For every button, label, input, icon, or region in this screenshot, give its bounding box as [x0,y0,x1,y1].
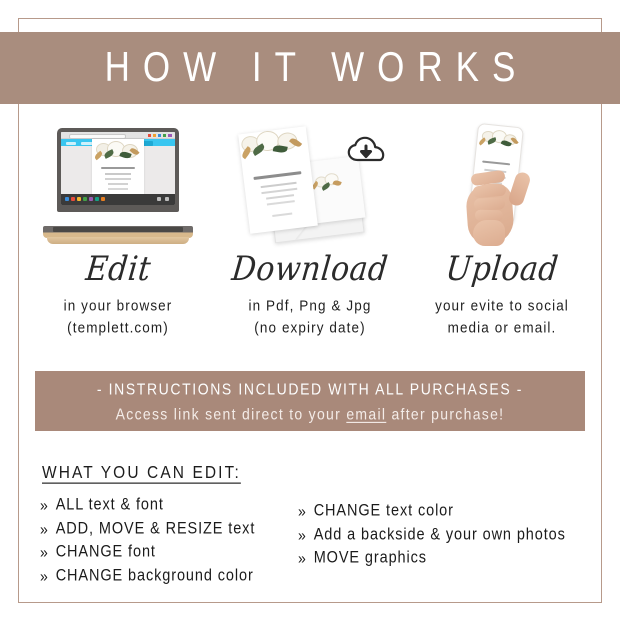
list-item: »ALL text & font [40,497,298,513]
step-download: Download in Pdf, Png & Jpg (no expiry da… [214,118,406,353]
step-caption-edit: in your browser (templett.com) [64,295,173,338]
bullet-icon: » [298,527,307,543]
step-upload: Upload your evite to social media or ema… [406,118,598,353]
list-item-label: MOVE graphics [314,550,427,566]
caption-line-2: (no expiry date) [248,317,371,339]
bullet-icon: » [40,521,49,537]
caption-line-2: media or email. [435,317,569,339]
list-item-label: ALL text & font [56,497,164,513]
list-item: »Add a backside & your own photos [298,527,585,543]
list-item-label: Add a backside & your own photos [314,527,566,543]
front-card-shape [238,126,318,234]
laptop-browser-invitation-icon [22,118,214,246]
bullet-icon: » [298,550,307,566]
list-item-label: CHANGE text color [314,503,454,519]
page-title: HOW IT WORKS [92,44,529,91]
step-label-edit: Edit [84,250,153,289]
bullet-icon: » [40,497,49,513]
instructions-subline-after: after purchase! [386,405,504,423]
caption-line-1: in Pdf, Png & Jpg [248,295,371,317]
edit-section-heading: WHAT YOU CAN EDIT: [42,463,241,484]
list-item-label: ADD, MOVE & RESIZE text [56,521,256,537]
list-item: »CHANGE font [40,544,298,560]
bullet-icon: » [298,503,307,519]
step-caption-download: in Pdf, Png & Jpg (no expiry date) [248,295,371,338]
list-item: »CHANGE background color [40,568,298,584]
title-banner: HOW IT WORKS [0,32,620,104]
email-link[interactable]: email [346,405,386,423]
invitation-cards-cloud-download-icon [214,118,406,246]
hand-holding-phone-invitation-icon [406,118,598,246]
edit-list-left: »ALL text & font »ADD, MOVE & RESIZE tex… [40,497,298,591]
how-it-works-infographic: HOW IT WORKS [0,0,620,620]
hand-shape [459,166,529,246]
instructions-banner: - INSTRUCTIONS INCLUDED WITH ALL PURCHAS… [35,371,585,431]
step-label-upload: Upload [444,250,560,289]
step-edit: Edit in your browser (templett.com) [22,118,214,353]
caption-line-1: your evite to social [435,295,569,317]
list-item: »CHANGE text color [298,503,585,519]
bullet-icon: » [40,544,49,560]
step-caption-upload: your evite to social media or email. [435,295,569,338]
instructions-subline: Access link sent direct to your email af… [116,405,505,423]
list-item: »ADD, MOVE & RESIZE text [40,521,298,537]
instructions-subline-before: Access link sent direct to your [116,405,347,423]
list-item-label: CHANGE background color [56,568,254,584]
edit-list-right: »CHANGE text color »Add a backside & you… [298,497,585,591]
step-label-download: Download [230,250,390,289]
caption-line-2: (templett.com) [64,317,173,339]
edit-capability-lists: »ALL text & font »ADD, MOVE & RESIZE tex… [40,497,585,591]
list-item-label: CHANGE font [56,544,156,560]
cloud-download-icon [347,136,387,166]
instructions-headline: - INSTRUCTIONS INCLUDED WITH ALL PURCHAS… [97,379,523,397]
steps-row: Edit in your browser (templett.com) [22,118,598,353]
caption-line-1: in your browser [64,295,173,317]
list-item: »MOVE graphics [298,550,585,566]
bullet-icon: » [40,568,49,584]
